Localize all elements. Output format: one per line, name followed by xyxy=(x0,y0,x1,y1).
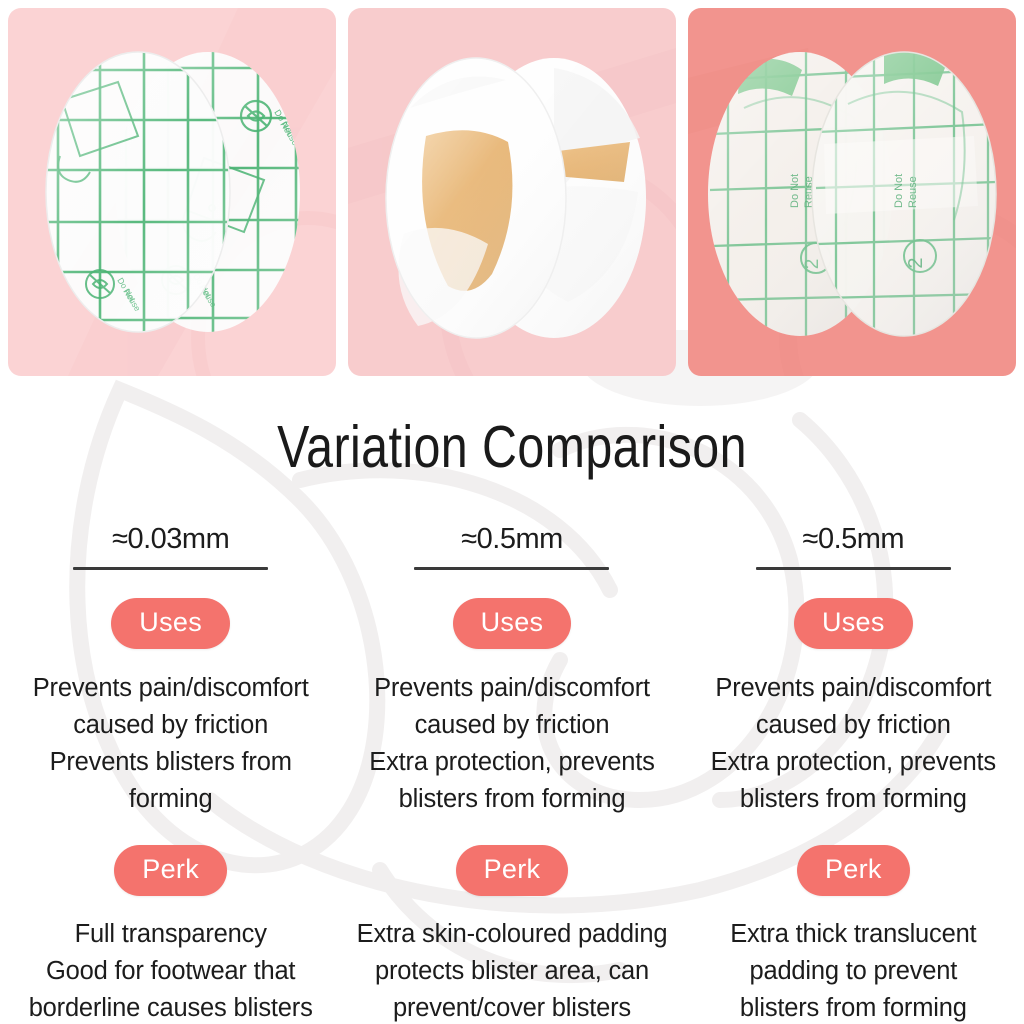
uses-text: Prevents pain/discomfort caused by frict… xyxy=(711,670,996,818)
uses-text: Prevents pain/discomfort caused by frict… xyxy=(369,670,654,818)
comparison-column-3: ≈0.5mm Uses Prevents pain/discomfort cau… xyxy=(683,525,1024,1024)
page-title: Variation Comparison xyxy=(92,418,932,477)
photo-panel-thin-transparent: Do Not Reuse Do Not Reuse xyxy=(8,8,336,376)
thickness-label: ≈0.5mm xyxy=(461,525,563,554)
product-photo-strip: Do Not Reuse Do Not Reuse xyxy=(8,8,1016,376)
comparison-column-2: ≈0.5mm Uses Prevents pain/discomfort cau… xyxy=(341,525,682,1024)
thickness-label: ≈0.5mm xyxy=(803,525,905,554)
uses-text: Prevents pain/discomfort caused by frict… xyxy=(33,670,309,818)
photo-panel-thick-translucent: 2 Do Not Reuse xyxy=(688,8,1016,376)
uses-badge: Uses xyxy=(794,598,913,649)
column-divider xyxy=(414,567,609,570)
column-divider xyxy=(756,567,951,570)
perk-badge: Perk xyxy=(456,845,569,896)
comparison-column-1: ≈0.03mm Uses Prevents pain/discomfort ca… xyxy=(0,525,341,1024)
column-divider xyxy=(73,567,268,570)
perk-text: Extra thick translucent padding to preve… xyxy=(730,916,976,1024)
perk-badge: Perk xyxy=(114,845,227,896)
perk-text: Extra skin-coloured padding protects bli… xyxy=(357,916,668,1024)
uses-badge: Uses xyxy=(111,598,230,649)
infographic-page: Do Not Reuse Do Not Reuse xyxy=(0,0,1024,1024)
perk-text: Full transparency Good for footwear that… xyxy=(29,916,313,1024)
comparison-columns: ≈0.03mm Uses Prevents pain/discomfort ca… xyxy=(0,525,1024,1024)
thickness-label: ≈0.03mm xyxy=(112,525,229,554)
perk-badge: Perk xyxy=(797,845,910,896)
uses-badge: Uses xyxy=(453,598,572,649)
photo-panel-skin-padding xyxy=(348,8,676,376)
